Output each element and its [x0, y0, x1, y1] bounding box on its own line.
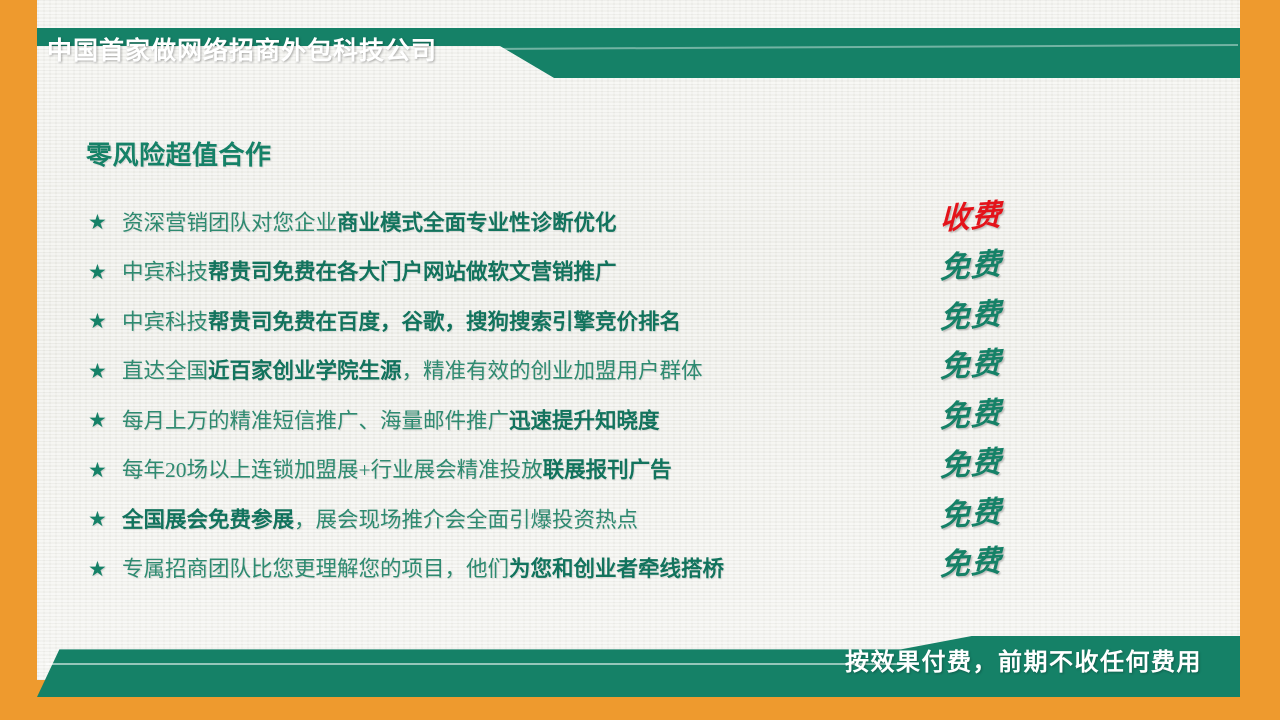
- price-badge-row: 免费: [940, 342, 1060, 392]
- benefit-text: 中宾科技帮贵司免费在各大门户网站做软文营销推广: [122, 257, 918, 287]
- star-bullet-icon: ★: [88, 311, 122, 332]
- star-bullet-icon: ★: [88, 509, 122, 530]
- badge-free: 免费: [940, 347, 1002, 385]
- benefit-text-normal: 每年20场以上连锁加盟展+行业展会精准投放: [122, 458, 543, 482]
- benefit-text: 每月上万的精准短信推广、海量邮件推广迅速提升知晓度: [122, 406, 918, 436]
- star-bullet-icon: ★: [88, 559, 122, 580]
- star-bullet-icon: ★: [88, 262, 122, 283]
- benefit-text-normal: 直达全国: [122, 359, 208, 383]
- slide-root: 中国首家做网络招商外包科技公司 零风险超值合作 ★资深营销团队对您企业商业模式全…: [0, 0, 1280, 720]
- badge-free: 免费: [940, 446, 1002, 484]
- footer-divider-line: [46, 663, 918, 665]
- benefit-row: ★每年20场以上连锁加盟展+行业展会精准投放联展报刊广告: [88, 446, 918, 496]
- benefit-row: ★每月上万的精准短信推广、海量邮件推广迅速提升知晓度: [88, 396, 918, 446]
- benefit-text-emphasis: 帮贵司免费在百度，谷歌，搜狗搜索引擎竞价排名: [208, 310, 681, 334]
- benefit-text: 中宾科技帮贵司免费在百度，谷歌，搜狗搜索引擎竞价排名: [122, 307, 918, 337]
- benefit-text-normal: 每月上万的精准短信推广、海量邮件推广: [122, 409, 509, 433]
- benefit-text-normal-tail: ，精准有效的创业加盟用户群体: [402, 359, 703, 383]
- price-badge-row: 免费: [940, 540, 1060, 590]
- badge-free: 免费: [940, 397, 1002, 435]
- badge-free: 免费: [940, 496, 1002, 534]
- benefit-text: 资深营销团队对您企业商业模式全面专业性诊断优化: [122, 208, 918, 238]
- price-badge-row: 免费: [940, 292, 1060, 342]
- frame-edge-bottom: [0, 697, 1280, 720]
- benefit-row: ★中宾科技帮贵司免费在各大门户网站做软文营销推广: [88, 248, 918, 298]
- star-bullet-icon: ★: [88, 361, 122, 382]
- benefit-text-normal: 专属招商团队比您更理解您的项目，他们: [122, 557, 509, 581]
- benefit-text-emphasis: 近百家创业学院生源: [208, 359, 402, 383]
- benefit-text-normal-tail: ，展会现场推介会全面引爆投资热点: [294, 508, 638, 532]
- benefit-text-emphasis: 为您和创业者牵线搭桥: [509, 557, 724, 581]
- price-badge-row: 免费: [940, 243, 1060, 293]
- benefit-text-emphasis: 联展报刊广告: [543, 458, 672, 482]
- header-title: 中国首家做网络招商外包科技公司: [47, 32, 437, 70]
- frame-edge-left: [0, 0, 37, 720]
- badge-free: 免费: [940, 298, 1002, 336]
- star-bullet-icon: ★: [88, 212, 122, 233]
- benefit-text-normal: 资深营销团队对您企业: [122, 211, 337, 235]
- benefit-text-emphasis: 商业模式全面专业性诊断优化: [337, 211, 617, 235]
- benefit-text: 每年20场以上连锁加盟展+行业展会精准投放联展报刊广告: [122, 455, 918, 485]
- section-heading: 零风险超值合作: [86, 135, 272, 172]
- footer-tagline: 按效果付费，前期不收任何费用: [845, 645, 1202, 681]
- star-bullet-icon: ★: [88, 410, 122, 431]
- benefit-row: ★全国展会免费参展，展会现场推介会全面引爆投资热点: [88, 495, 918, 545]
- benefit-row: ★资深营销团队对您企业商业模式全面专业性诊断优化: [88, 198, 918, 248]
- badge-free: 免费: [940, 545, 1002, 583]
- benefit-row: ★专属招商团队比您更理解您的项目，他们为您和创业者牵线搭桥: [88, 545, 918, 595]
- badge-free: 免费: [940, 248, 1002, 286]
- benefit-text: 专属招商团队比您更理解您的项目，他们为您和创业者牵线搭桥: [122, 554, 918, 584]
- price-badge-row: 免费: [940, 490, 1060, 540]
- price-badge-row: 免费: [940, 391, 1060, 441]
- star-bullet-icon: ★: [88, 460, 122, 481]
- benefit-text-emphasis: 帮贵司免费在各大门户网站做软文营销推广: [208, 260, 617, 284]
- benefit-text: 全国展会免费参展，展会现场推介会全面引爆投资热点: [122, 505, 918, 535]
- benefit-row: ★中宾科技帮贵司免费在百度，谷歌，搜狗搜索引擎竞价排名: [88, 297, 918, 347]
- benefit-row: ★直达全国近百家创业学院生源，精准有效的创业加盟用户群体: [88, 347, 918, 397]
- benefit-text-emphasis: 迅速提升知晓度: [509, 409, 660, 433]
- benefit-text-normal: 中宾科技: [122, 260, 208, 284]
- benefit-text-emphasis: 全国展会免费参展: [122, 508, 294, 532]
- frame-edge-right: [1240, 0, 1280, 720]
- benefit-text-normal: 中宾科技: [122, 310, 208, 334]
- price-badge-row: 免费: [940, 441, 1060, 491]
- benefits-list: ★资深营销团队对您企业商业模式全面专业性诊断优化★中宾科技帮贵司免费在各大门户网…: [88, 198, 918, 594]
- benefit-text: 直达全国近百家创业学院生源，精准有效的创业加盟用户群体: [122, 356, 918, 386]
- badge-paid: 收费: [940, 199, 1002, 237]
- price-badge-row: 收费: [940, 193, 1060, 243]
- price-badge-column: 收费免费免费免费免费免费免费免费: [940, 193, 1060, 589]
